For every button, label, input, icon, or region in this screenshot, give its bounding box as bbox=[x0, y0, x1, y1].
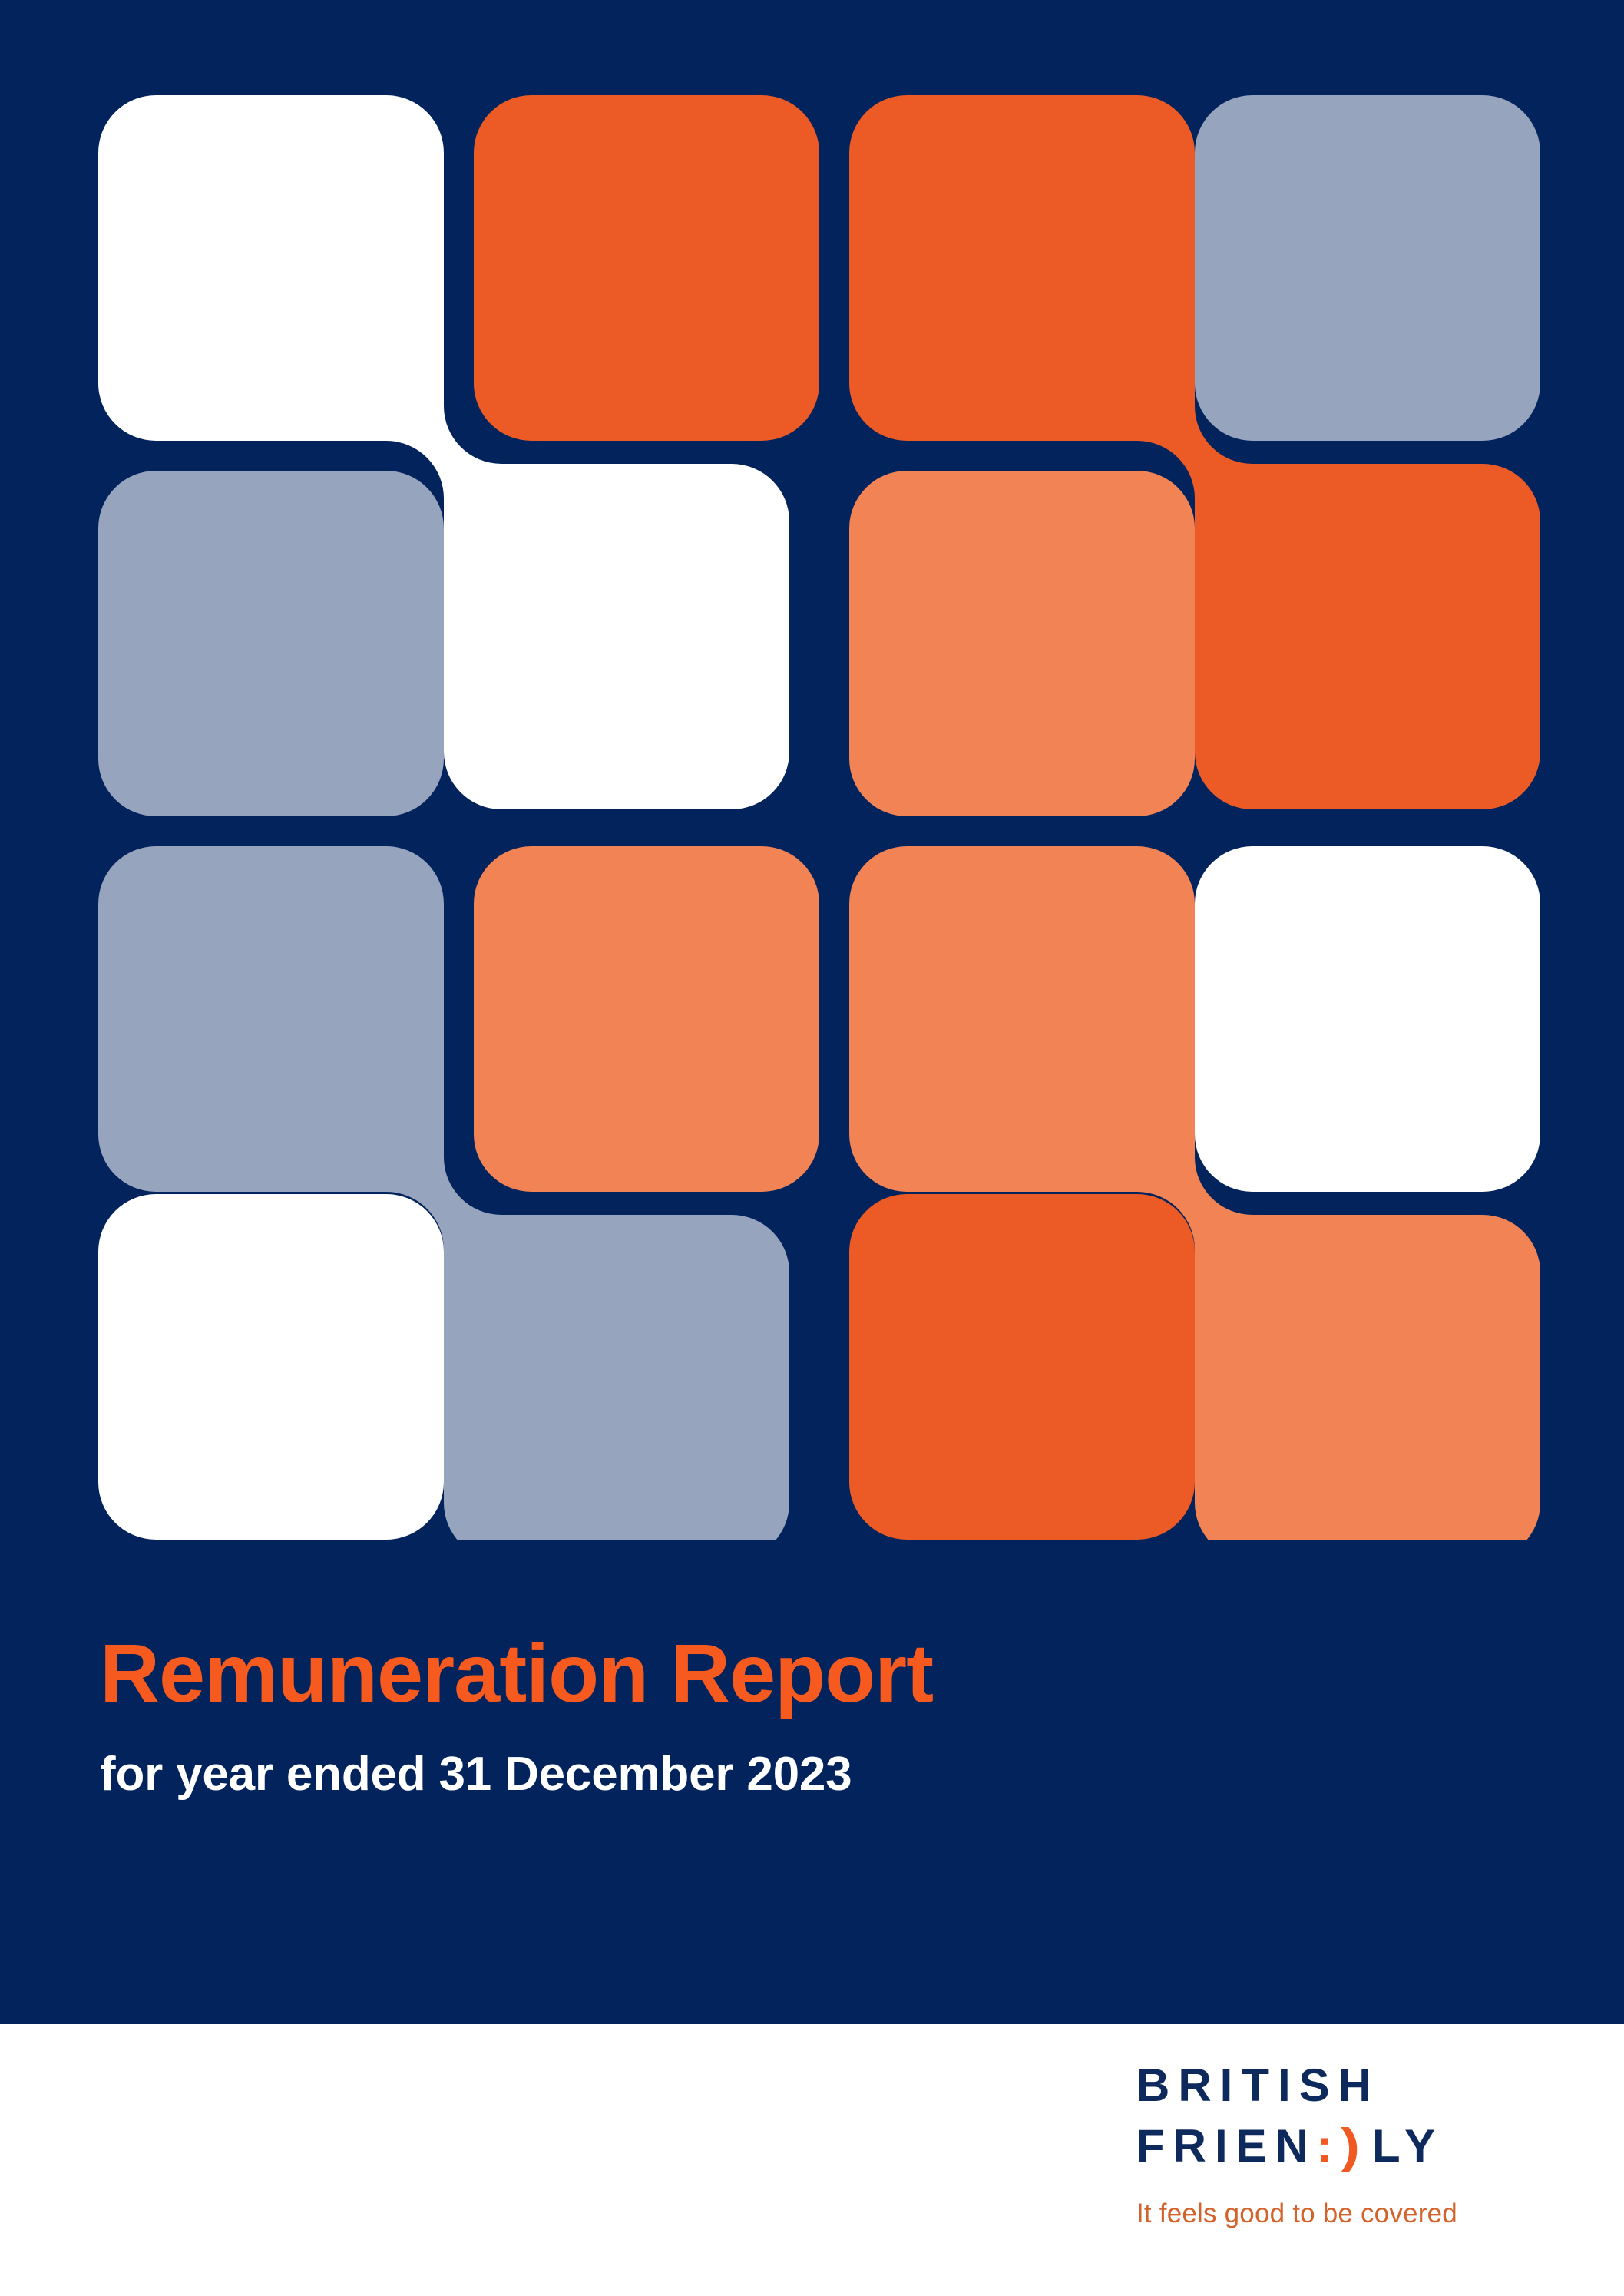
tile-r1c2-orange-dark bbox=[474, 95, 819, 441]
logo-tagline: It feels good to be covered bbox=[1136, 2199, 1566, 2229]
logo-wordmark-suffix: LY bbox=[1372, 2120, 1444, 2172]
page-title: Remuneration Report bbox=[100, 1629, 1405, 1716]
logo-wordmark-line-1: BRITISH bbox=[1136, 2055, 1566, 2116]
logo-wordmark-line-2: FRIEN:)LY bbox=[1136, 2116, 1566, 2176]
tile-mosaic-graphic bbox=[98, 95, 1540, 1540]
page-subtitle: for year ended 31 December 2023 bbox=[100, 1748, 1405, 1801]
tile-r4c1-white bbox=[98, 1194, 444, 1540]
smiley-colon-icon: : bbox=[1317, 2120, 1341, 2172]
logo-wordmark-prefix: FRIEN bbox=[1136, 2120, 1317, 2172]
title-block: Remuneration Report for year ended 31 De… bbox=[100, 1629, 1405, 1801]
tile-r2c1-grey bbox=[98, 471, 444, 816]
cover-panel: Remuneration Report for year ended 31 De… bbox=[0, 0, 1624, 2024]
tile-r3c2-orange-light bbox=[474, 846, 819, 1192]
tile-r1c4-grey bbox=[1195, 95, 1540, 441]
tile-r2c3-orange-light bbox=[849, 471, 1195, 816]
smiley-paren-icon: ) bbox=[1341, 2114, 1371, 2178]
brand-logo: BRITISH FRIEN:)LY It feels good to be co… bbox=[1136, 2055, 1566, 2229]
tile-r4c3-orange-dark bbox=[849, 1194, 1195, 1540]
tile-r3c4-white bbox=[1195, 846, 1540, 1192]
